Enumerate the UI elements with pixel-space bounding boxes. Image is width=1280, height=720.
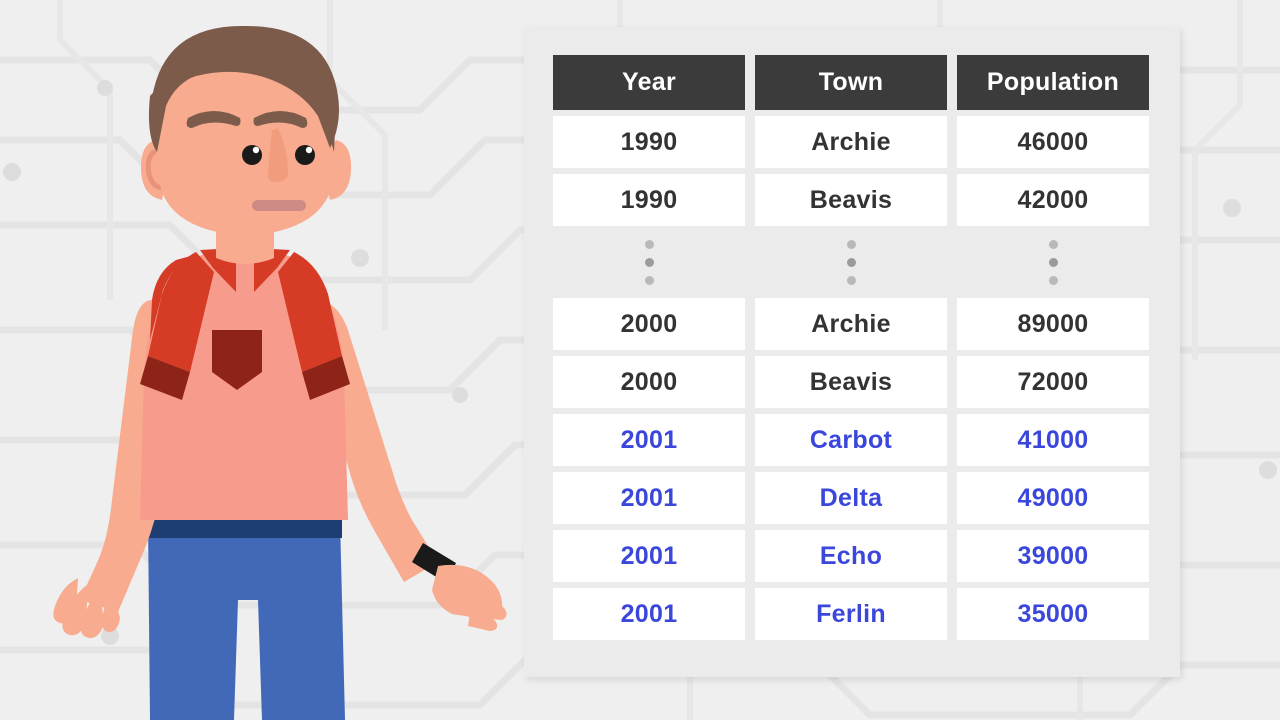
cell-population: 89000	[957, 298, 1149, 350]
cell-population: 49000	[957, 472, 1149, 524]
right-eye	[295, 145, 315, 165]
cell-year: 2000	[553, 356, 745, 408]
jeans	[147, 512, 345, 720]
cell-year: 1990	[553, 174, 745, 226]
cell-year: 1990	[553, 116, 745, 168]
column-header-town[interactable]: Town	[755, 55, 947, 110]
table-header-row: Year Town Population	[553, 55, 1149, 110]
cell-town: Carbot	[755, 414, 947, 466]
column-header-year[interactable]: Year	[553, 55, 745, 110]
table-row-highlighted[interactable]: 2001 Echo 39000	[553, 530, 1149, 582]
cell-population: 41000	[957, 414, 1149, 466]
cell-town: Ferlin	[755, 588, 947, 640]
cell-population: 72000	[957, 356, 1149, 408]
screen: Year Town Population 1990 Archie 46000 1…	[0, 0, 1280, 720]
cartoon-man-illustration	[0, 0, 540, 720]
cell-town: Beavis	[755, 356, 947, 408]
cell-town: Echo	[755, 530, 947, 582]
cell-population: 39000	[957, 530, 1149, 582]
vertical-dots-icon	[755, 232, 947, 292]
cell-year: 2001	[553, 414, 745, 466]
cell-population: 35000	[957, 588, 1149, 640]
cell-year: 2001	[553, 530, 745, 582]
table-row-highlighted[interactable]: 2001 Ferlin 35000	[553, 588, 1149, 640]
cell-town: Archie	[755, 116, 947, 168]
population-table: Year Town Population 1990 Archie 46000 1…	[553, 55, 1149, 646]
vertical-dots-icon	[553, 232, 745, 292]
table-row-highlighted[interactable]: 2001 Delta 49000	[553, 472, 1149, 524]
cell-town: Delta	[755, 472, 947, 524]
column-header-population[interactable]: Population	[957, 55, 1149, 110]
cell-population: 46000	[957, 116, 1149, 168]
table-ellipsis-row	[553, 232, 1149, 292]
cell-town: Archie	[755, 298, 947, 350]
cell-year: 2001	[553, 588, 745, 640]
table-row-highlighted[interactable]: 2001 Carbot 41000	[553, 414, 1149, 466]
mouth	[252, 200, 306, 211]
table-panel: Year Town Population 1990 Archie 46000 1…	[524, 27, 1180, 677]
cell-town: Beavis	[755, 174, 947, 226]
table-row[interactable]: 1990 Beavis 42000	[553, 174, 1149, 226]
cell-year: 2000	[553, 298, 745, 350]
table-row[interactable]: 2000 Beavis 72000	[553, 356, 1149, 408]
cell-year: 2001	[553, 472, 745, 524]
shirt	[140, 248, 350, 520]
table-row[interactable]: 1990 Archie 46000	[553, 116, 1149, 168]
left-eye	[242, 145, 262, 165]
table-row[interactable]: 2000 Archie 89000	[553, 298, 1149, 350]
cell-population: 42000	[957, 174, 1149, 226]
vertical-dots-icon	[957, 232, 1149, 292]
